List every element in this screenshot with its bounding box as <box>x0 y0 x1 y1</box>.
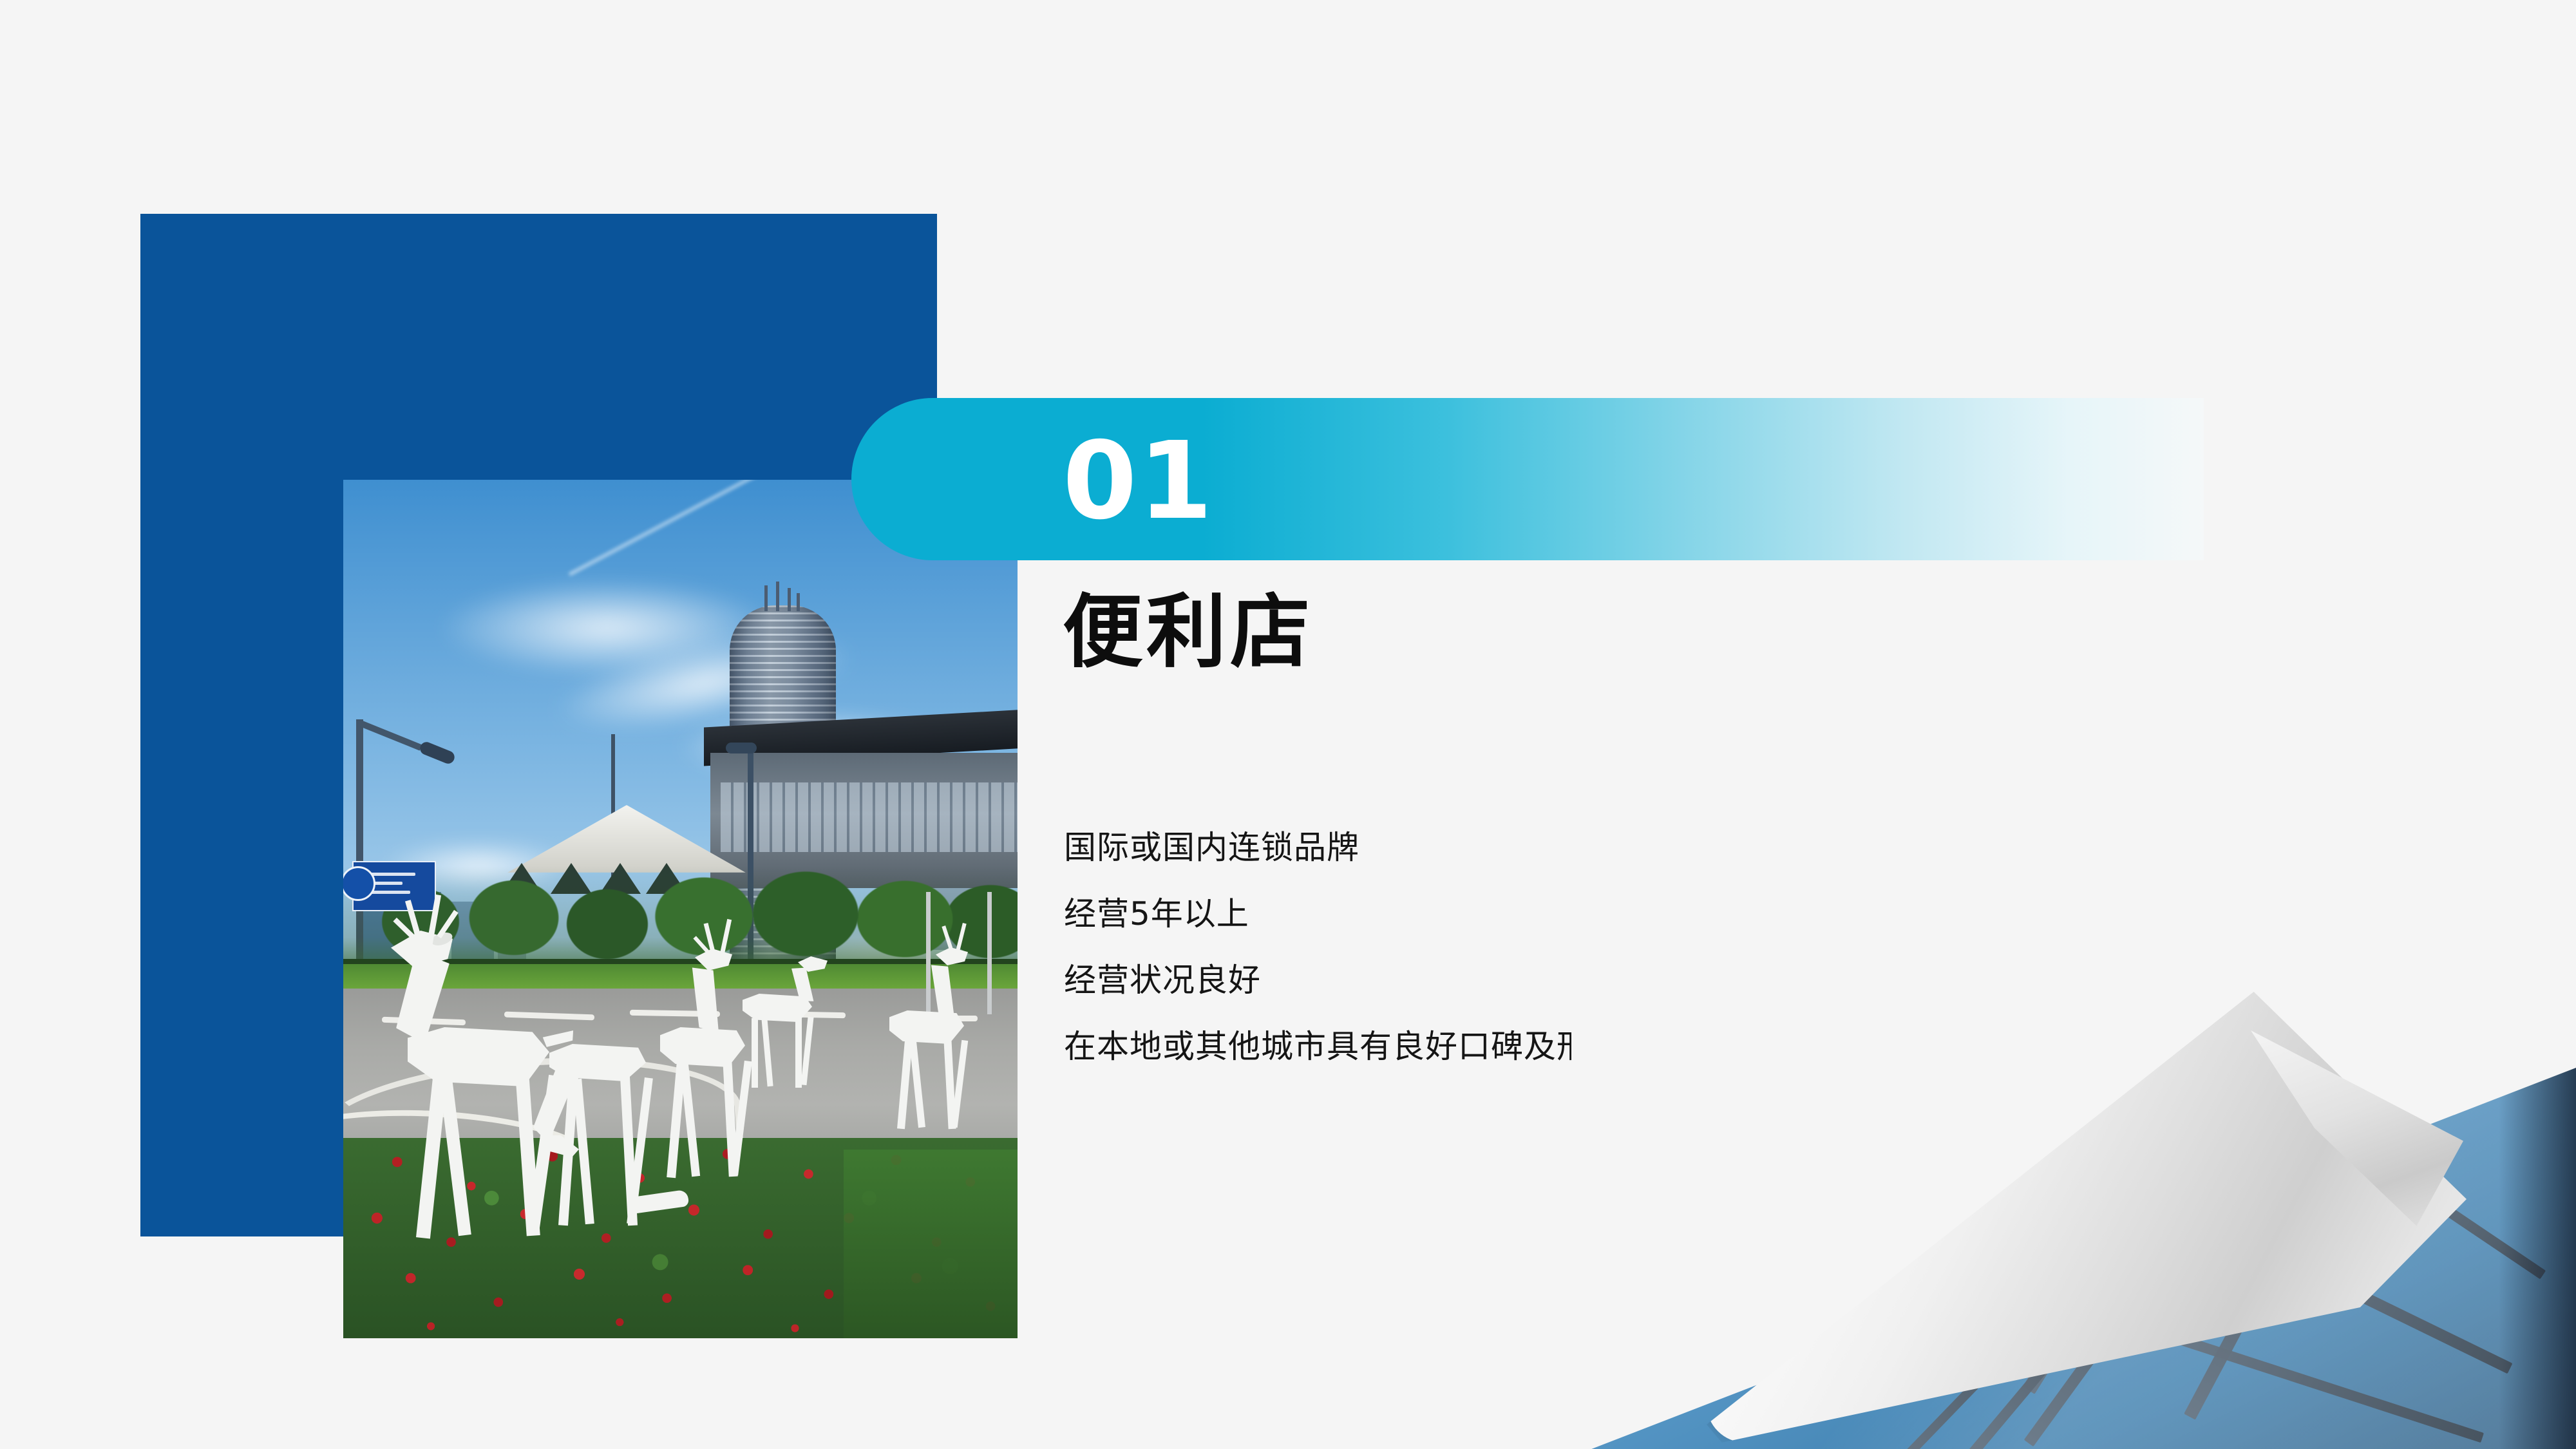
city-photo <box>343 480 1018 1338</box>
curl-page-mask <box>1571 934 2576 1449</box>
curl-lip <box>2251 1030 2463 1243</box>
grass-patch <box>844 1150 1018 1338</box>
page-title: 便利店 <box>1063 592 1314 672</box>
slide-canvas: 01 便利店 国际或国内连锁品牌 经营5年以上 经营状况良好 在本地或其他城市具… <box>0 0 2576 1449</box>
curl-folded-sheet <box>1707 992 2467 1443</box>
page-curl-corner <box>1571 934 2576 1449</box>
section-number-bar <box>851 398 2204 560</box>
section-number: 01 <box>1063 401 1214 563</box>
glass-beam <box>1960 1247 2146 1449</box>
glass-beam <box>2264 1245 2512 1374</box>
bullet-item: 在本地或其他城市具有良好口碑及形象。 <box>1064 1014 1655 1080</box>
bullet-list: 国际或国内连锁品牌 经营5年以上 经营状况良好 在本地或其他城市具有良好口碑及形… <box>1064 815 1655 1080</box>
glass-beam <box>2380 1162 2546 1279</box>
glass-beam <box>1877 1313 2045 1449</box>
bullet-item: 国际或国内连锁品牌 <box>1064 815 1655 881</box>
deer-sculpture <box>879 931 989 1143</box>
street-lamp-head <box>726 743 757 753</box>
tower-antenna <box>761 583 803 611</box>
bullet-item: 经营状况良好 <box>1064 947 1655 1014</box>
exhibition-hall-glazing <box>721 782 1018 852</box>
glass-beam <box>2023 1005 2274 1394</box>
curl-drop-shadow <box>1732 1082 2428 1443</box>
deer-sculpture <box>736 956 833 1117</box>
curl-edge-shadow <box>2499 1050 2576 1449</box>
glass-beam <box>2163 1329 2484 1443</box>
glass-beam <box>2184 1095 2365 1420</box>
glass-beam <box>2024 1169 2230 1446</box>
curl-underlay-photo <box>1571 934 2576 1449</box>
bullet-item: 经营5年以上 <box>1064 881 1655 947</box>
